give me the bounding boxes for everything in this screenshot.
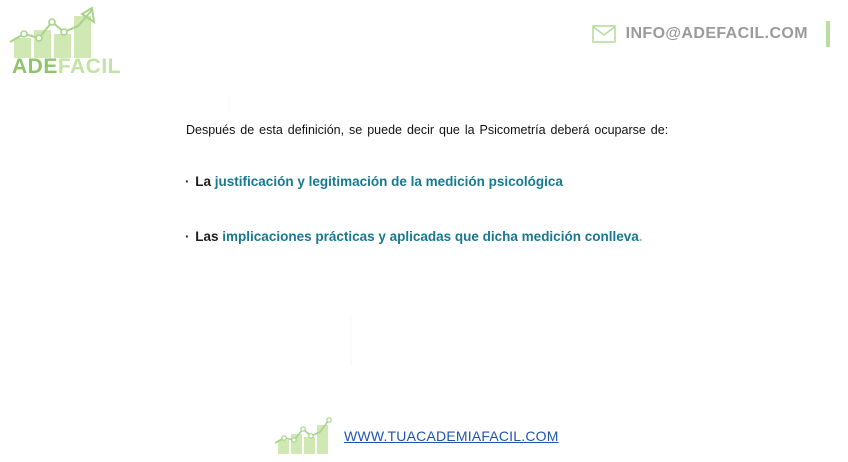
bullet-tail-text: . — [639, 229, 643, 244]
list-item: · Las implicaciones prácticas y aplicada… — [185, 228, 700, 246]
footer-website-link[interactable]: WWW.TUACADEMIAFACIL.COM — [344, 428, 559, 444]
list-item: · La justificación y legitimación de la … — [185, 173, 700, 191]
footer: WWW.TUACADEMIAFACIL.COM — [272, 417, 559, 455]
growth-chart-logo-icon — [272, 417, 334, 455]
logo-wordmark: ADEFACIL — [12, 56, 121, 77]
logo-word-primary: ADE — [12, 55, 58, 78]
scan-artifact — [228, 96, 230, 112]
scan-artifact — [350, 316, 352, 366]
bullet-lead-text: La — [195, 174, 211, 189]
growth-chart-logo-icon — [6, 4, 100, 60]
body-paragraph: Después de esta definición, se puede dec… — [146, 120, 700, 141]
main-content: Después de esta definición, se puede dec… — [146, 120, 700, 246]
bullet-highlight-text: implicaciones prácticas y aplicadas que … — [222, 229, 638, 244]
bullet-marker: · — [185, 229, 190, 244]
bullet-marker: · — [185, 174, 190, 189]
logo-word-secondary: FACIL — [58, 55, 121, 78]
contact-email-text: INFO@ADEFACIL.COM — [626, 25, 808, 43]
brand-logo: ADEFACIL — [6, 4, 102, 82]
header-divider — [826, 21, 830, 47]
bullet-lead-text: Las — [195, 229, 218, 244]
bullet-list: · La justificación y legitimación de la … — [146, 173, 700, 246]
envelope-icon — [592, 25, 616, 43]
bullet-highlight-text: justificación y legitimación de la medic… — [215, 174, 563, 189]
header-contact-block: INFO@ADEFACIL.COM — [592, 20, 830, 48]
